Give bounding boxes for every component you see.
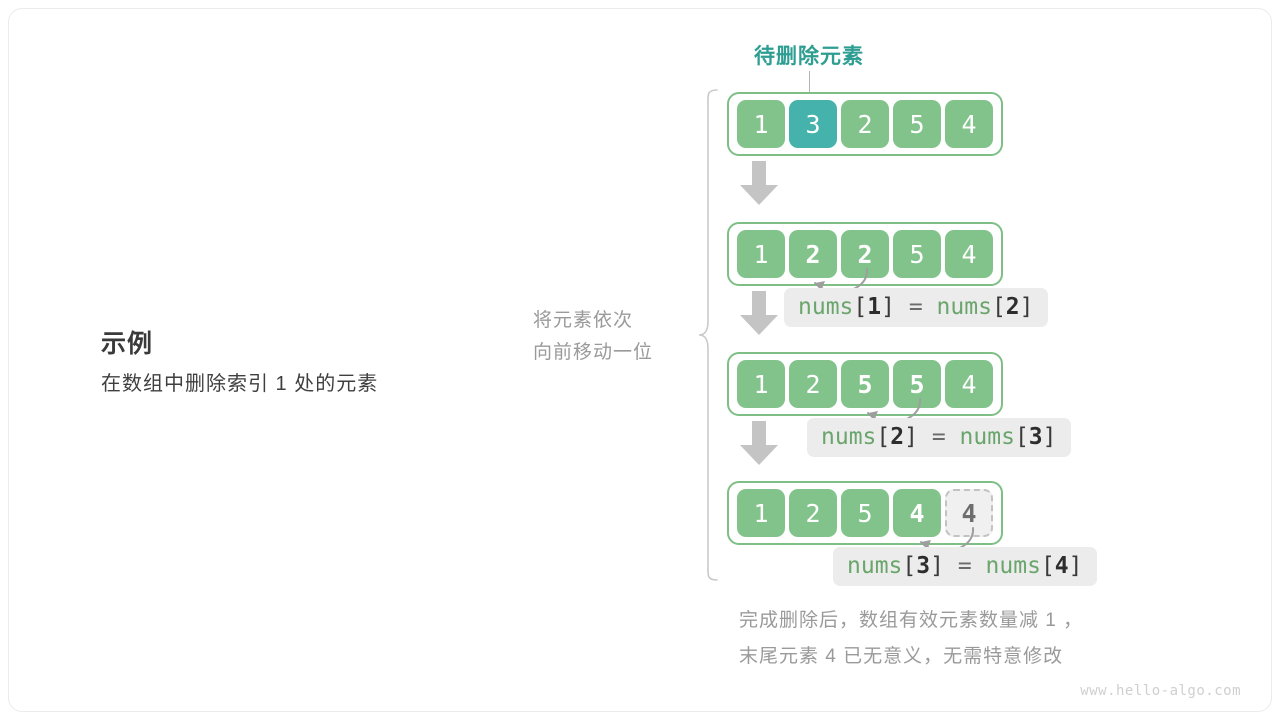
code-lhs-index: 3 — [916, 553, 930, 579]
watermark: www.hello-algo.com — [1080, 683, 1241, 699]
code-lhs-name: nums — [798, 294, 853, 320]
array-cell[interactable]: 2 — [789, 360, 837, 408]
array-cell[interactable]: 1 — [737, 360, 785, 408]
code-rhs-index: 4 — [1055, 553, 1069, 579]
shift-note-line1: 将元素依次 — [533, 305, 693, 337]
code-lhs-name: nums — [821, 424, 876, 450]
array-cell[interactable]: 5 — [893, 230, 941, 278]
code-operator: = — [909, 294, 923, 320]
array-container: 1 3 2 5 4 — [727, 92, 1003, 156]
array-row: 1 3 2 5 4 — [727, 92, 1003, 156]
delete-target-label: 待删除元素 — [709, 40, 909, 70]
result-caption-line2: 末尾元素 4 已无意义，无需特意修改 — [739, 639, 1209, 675]
down-arrow-icon — [740, 161, 778, 205]
result-caption: 完成删除后，数组有效元素数量减 1 ， 末尾元素 4 已无意义，无需特意修改 — [739, 603, 1209, 675]
example-description: 在数组中删除索引 1 处的元素 — [101, 369, 521, 399]
array-cell[interactable]: 1 — [737, 100, 785, 148]
shift-note-line2: 向前移动一位 — [533, 337, 693, 369]
array-cell[interactable]: 4 — [945, 360, 993, 408]
code-label: nums[2] = nums[3] — [807, 418, 1071, 457]
shift-note: 将元素依次 向前移动一位 — [533, 305, 693, 369]
down-arrow-icon — [740, 421, 778, 465]
code-lhs-index: 1 — [867, 294, 881, 320]
code-rhs-name: nums — [937, 294, 992, 320]
code-rhs-name: nums — [960, 424, 1015, 450]
down-arrow-icon — [740, 291, 778, 335]
array-cell[interactable]: 1 — [737, 489, 785, 537]
array-cell[interactable]: 4 — [945, 230, 993, 278]
array-cell[interactable]: 2 — [841, 100, 889, 148]
code-operator: = — [958, 553, 972, 579]
diagram-card: 示例 在数组中删除索引 1 处的元素 将元素依次 向前移动一位 待删除元素 1 … — [8, 8, 1272, 712]
code-label: nums[3] = nums[4] — [833, 547, 1097, 586]
code-rhs-index: 2 — [1006, 294, 1020, 320]
code-operator: = — [932, 424, 946, 450]
page-title: 示例 — [101, 327, 521, 361]
array-cell[interactable]: 4 — [945, 100, 993, 148]
code-label: nums[1] = nums[2] — [784, 288, 1048, 327]
code-rhs-name: nums — [986, 553, 1041, 579]
brace-icon — [697, 89, 719, 581]
array-cell[interactable]: 5 — [893, 100, 941, 148]
array-cell[interactable]: 1 — [737, 230, 785, 278]
array-cell[interactable]: 2 — [789, 489, 837, 537]
code-lhs-name: nums — [847, 553, 902, 579]
code-lhs-index: 2 — [890, 424, 904, 450]
result-caption-line1: 完成删除后，数组有效元素数量减 1 ， — [739, 603, 1209, 639]
array-cell[interactable]: 5 — [841, 489, 889, 537]
array-cell[interactable]: 3 — [789, 100, 837, 148]
code-rhs-index: 3 — [1029, 424, 1043, 450]
example-panel: 示例 在数组中删除索引 1 处的元素 — [101, 327, 521, 399]
